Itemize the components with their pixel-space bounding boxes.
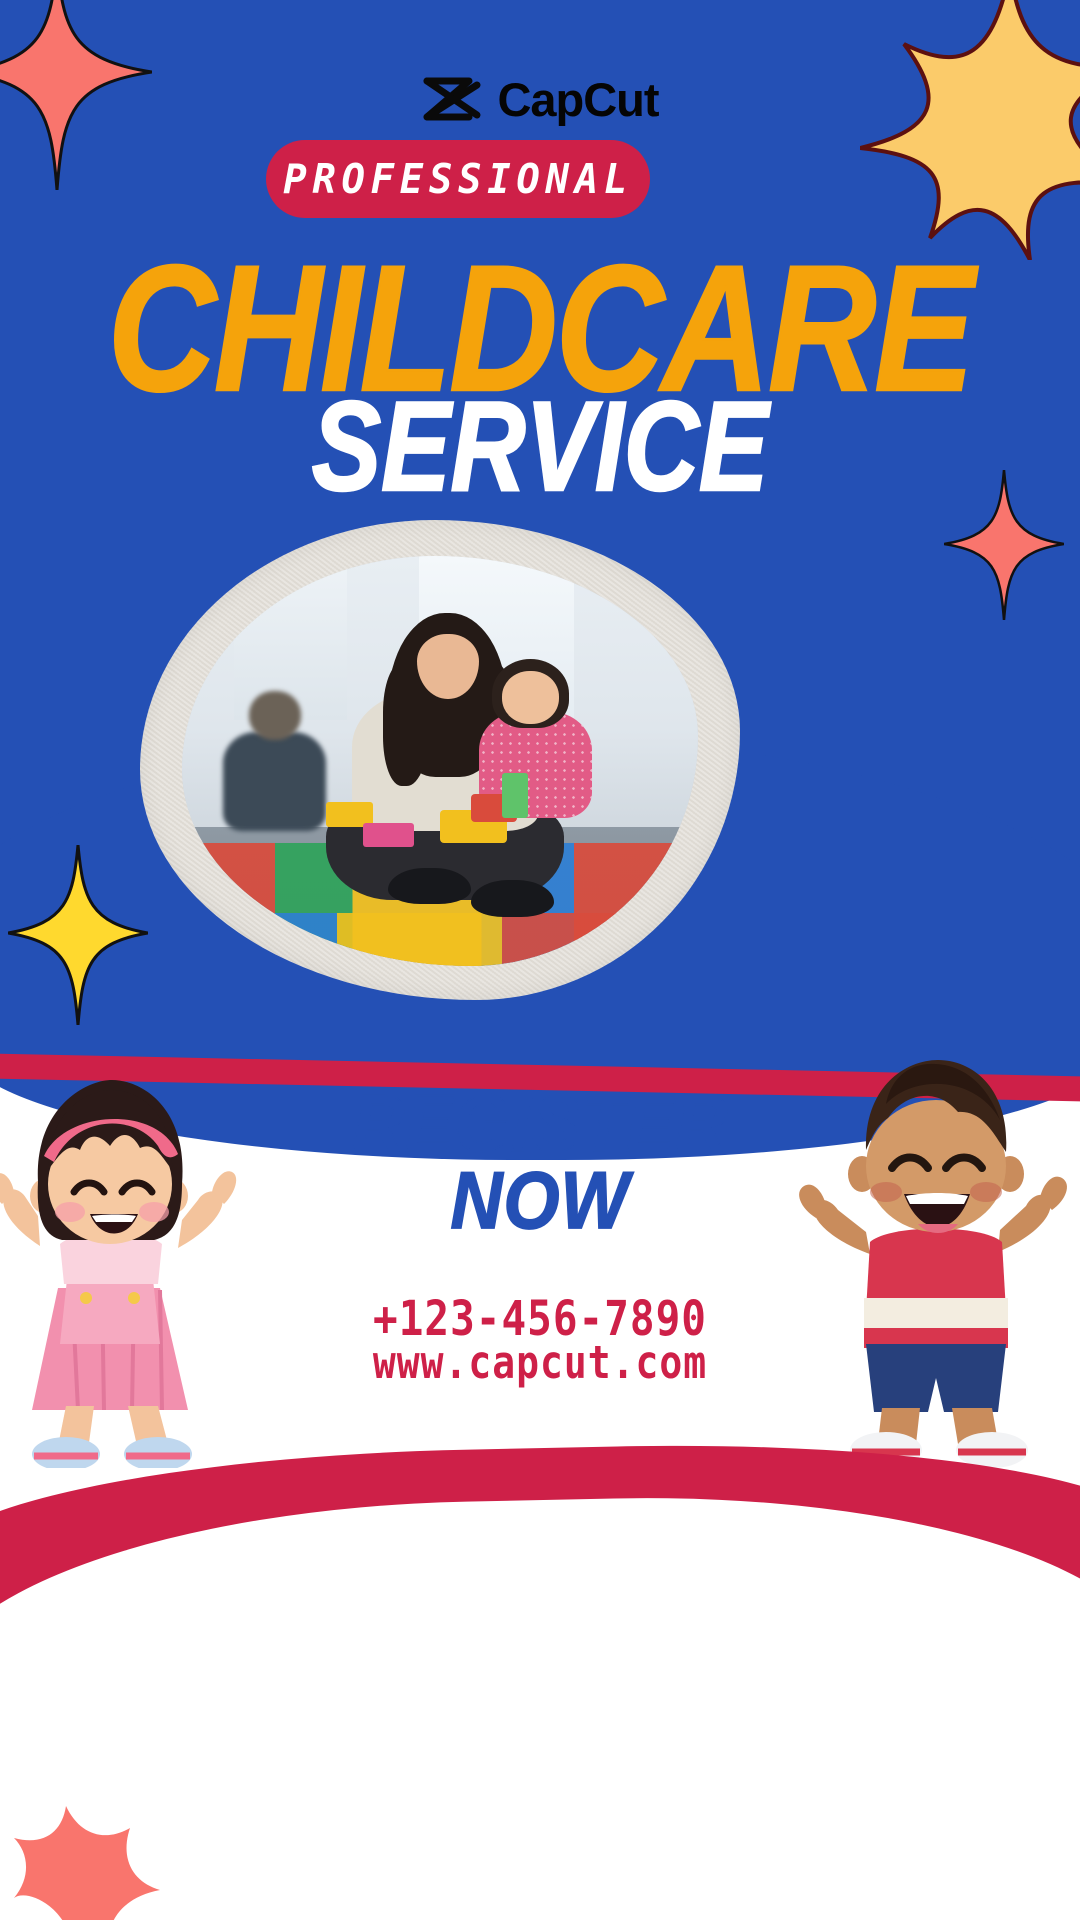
sparkle-top-right-icon	[860, 0, 1080, 260]
sparkle-bottom-left-icon	[8, 845, 148, 1025]
capcut-bowtie-icon	[421, 75, 483, 125]
professional-badge-label: PROFESSIONAL	[283, 155, 633, 203]
professional-badge: PROFESSIONAL	[266, 140, 650, 218]
headline-service: SERVICE	[0, 384, 1080, 511]
hero-photo-image	[182, 556, 698, 966]
cta-line-1: REGISTER	[352, 1079, 728, 1169]
cheering-boy-illustration	[786, 1046, 1080, 1476]
poster-canvas: CapCut PROFESSIONAL CHILDCARE SERVICE	[0, 0, 1080, 1920]
bottom-left-flower-icon	[10, 1780, 190, 1920]
brand-logo-text: CapCut	[497, 72, 658, 127]
cheering-girl-illustration	[0, 1058, 282, 1468]
hero-photo	[140, 520, 740, 1000]
brand-logo: CapCut	[0, 72, 1080, 127]
